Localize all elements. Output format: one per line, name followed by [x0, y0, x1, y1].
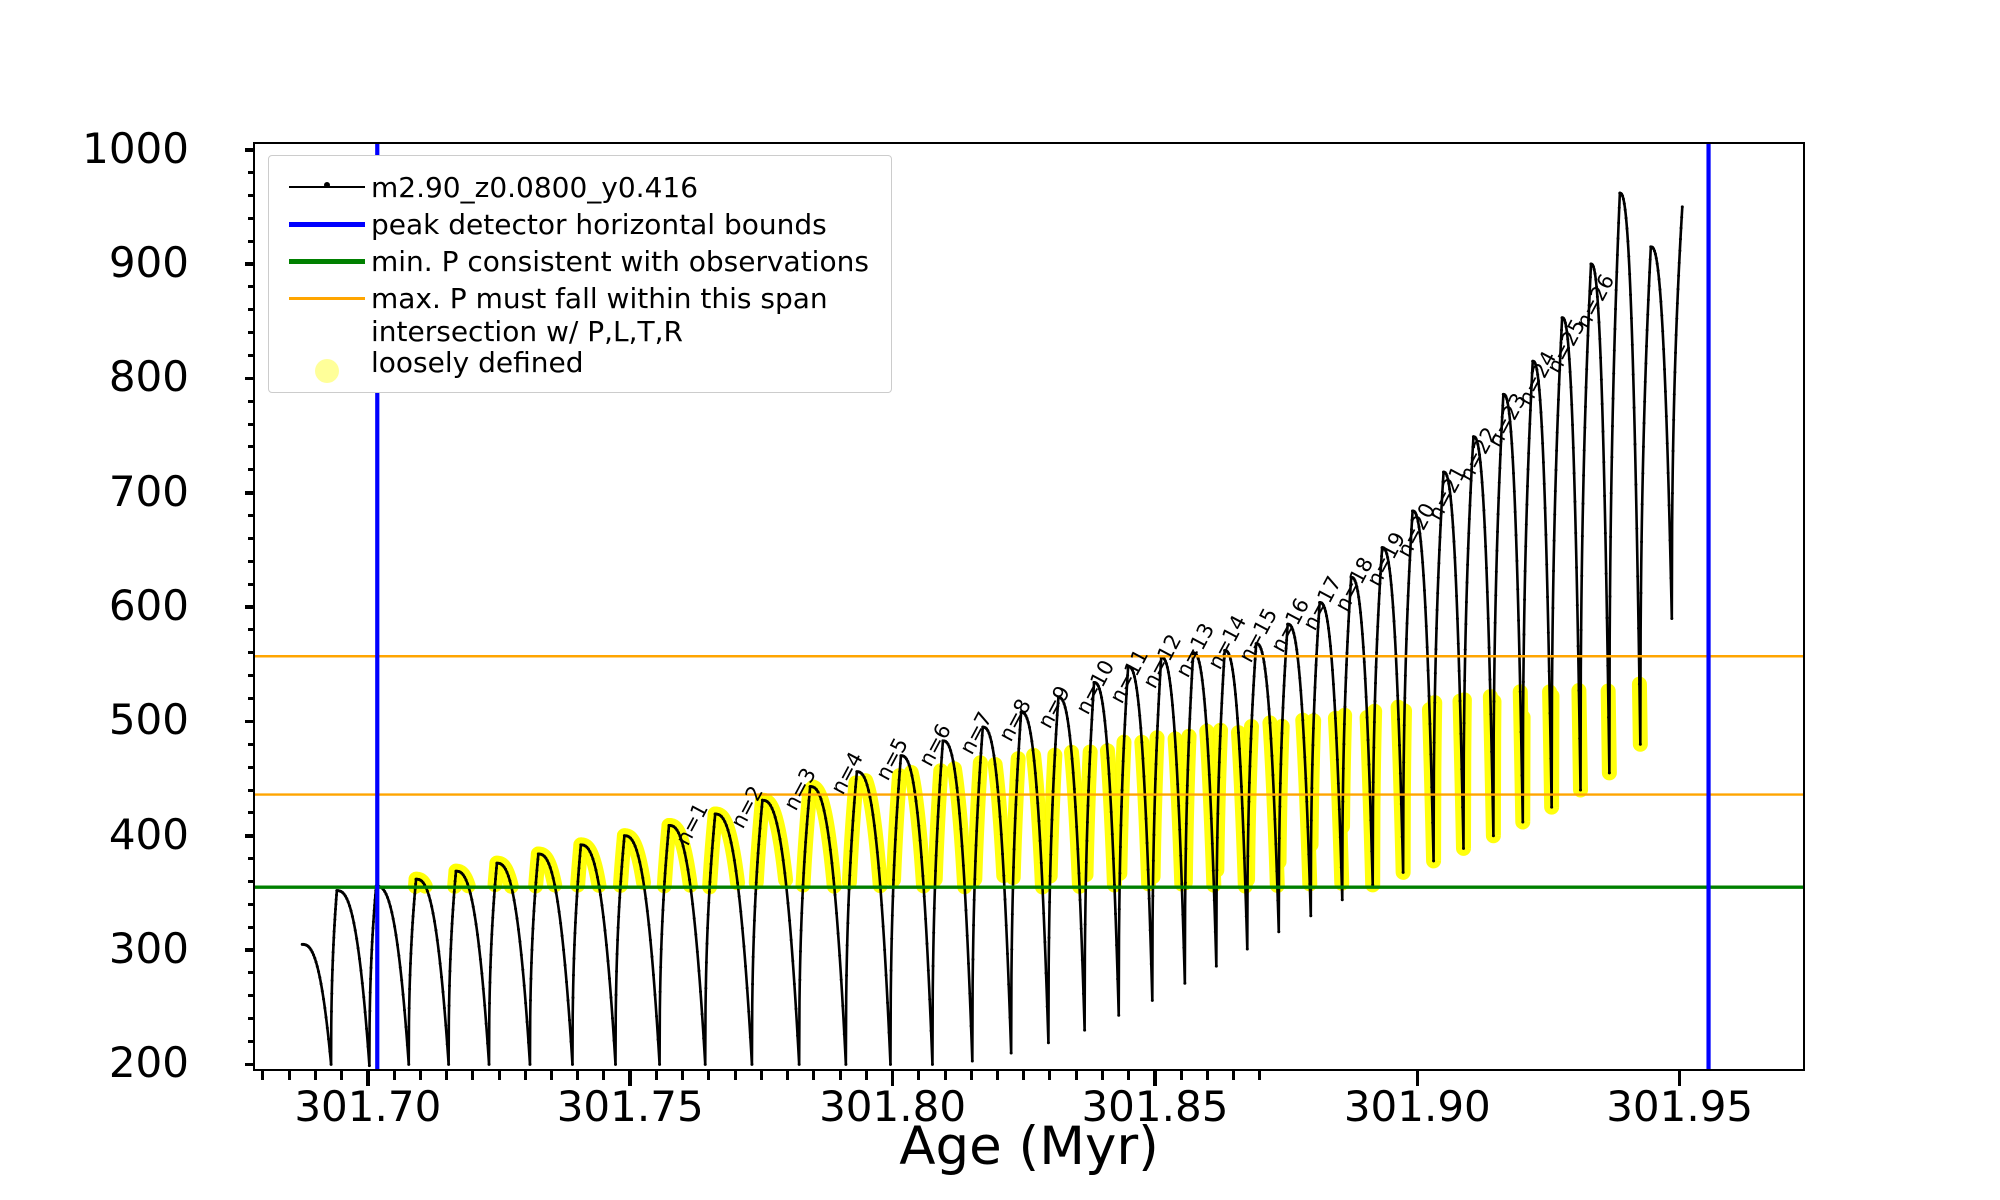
y-tick-label: 500 [0, 695, 189, 744]
legend-entry[interactable]: max. P must fall within this span [285, 279, 869, 316]
legend-label: m2.90_z0.0800_y0.416 [371, 168, 698, 203]
cycle-annotation: n=5 [871, 734, 913, 784]
y-tick-mark [245, 1063, 255, 1067]
line-sample-icon [289, 222, 365, 227]
legend-entry[interactable]: peak detector horizontal bounds [285, 205, 869, 242]
x-tick-mark-minor [445, 1071, 448, 1080]
legend-thin-line-key [285, 279, 371, 316]
y-tick-mark-minor [248, 240, 255, 243]
y-tick-mark-minor [248, 583, 255, 586]
cycle-annotation: n=3 [779, 763, 821, 813]
x-tick-mark-minor [314, 1071, 317, 1080]
x-tick-mark-minor [471, 1071, 474, 1080]
cycle-annotation: n=6 [914, 720, 956, 770]
y-tick-mark-minor [248, 811, 255, 814]
x-tick-mark-minor [1127, 1071, 1130, 1080]
y-tick-mark-minor [248, 651, 255, 654]
y-tick-mark [245, 605, 255, 609]
x-tick-mark-minor [1101, 1071, 1104, 1080]
x-tick-mark-minor [340, 1071, 343, 1080]
y-tick-label: 400 [0, 810, 189, 859]
legend-entry[interactable]: m2.90_z0.0800_y0.416 [285, 168, 869, 205]
legend-label: max. P must fall within this span [371, 279, 828, 314]
x-tick-mark-minor [1258, 1071, 1261, 1080]
legend-entry[interactable]: intersection w/ P,L,T,R loosely defined [285, 316, 869, 378]
y-tick-mark-minor [248, 285, 255, 288]
x-tick-mark [366, 1071, 370, 1086]
y-tick-mark-minor [248, 789, 255, 792]
y-tick-mark-minor [248, 423, 255, 426]
cycle-annotation: n=1 [671, 799, 713, 849]
y-tick-mark-minor [248, 514, 255, 517]
y-tick-mark-minor [248, 880, 255, 883]
y-tick-mark-minor [248, 445, 255, 448]
x-tick-mark [1153, 1071, 1157, 1086]
cycle-annotation: n=9 [1033, 682, 1075, 732]
x-tick-mark-minor [681, 1071, 684, 1080]
legend-dot-key [285, 329, 371, 366]
x-tick-mark-minor [419, 1071, 422, 1080]
x-tick-mark [628, 1071, 632, 1086]
legend-thick-line-key [285, 242, 371, 279]
y-tick-mark-minor [248, 400, 255, 403]
x-tick-mark-minor [393, 1071, 396, 1080]
legend-label: intersection w/ P,L,T,R loosely defined [371, 316, 683, 378]
y-tick-label: 200 [0, 1038, 189, 1087]
y-tick-mark-minor [248, 194, 255, 197]
x-tick-mark-minor [970, 1071, 973, 1080]
y-tick-mark-minor [248, 994, 255, 997]
x-tick-mark [1416, 1071, 1420, 1086]
x-tick-mark-minor [550, 1071, 553, 1080]
x-tick-mark-minor [1022, 1071, 1025, 1080]
y-tick-mark-minor [248, 308, 255, 311]
y-tick-mark-minor [248, 766, 255, 769]
legend-label: min. P consistent with observations [371, 242, 869, 277]
y-tick-mark [245, 720, 255, 724]
x-tick-mark-minor [288, 1071, 291, 1080]
y-tick-mark [245, 948, 255, 952]
x-tick-mark-minor [1206, 1071, 1209, 1080]
cycle-annotation: n=4 [826, 747, 868, 797]
x-tick-mark-minor [865, 1071, 868, 1080]
y-tick-mark-minor [248, 537, 255, 540]
x-tick-mark [891, 1071, 895, 1086]
y-tick-label: 700 [0, 467, 189, 516]
y-tick-label: 300 [0, 924, 189, 973]
legend-thick-line-key [285, 205, 371, 242]
x-tick-mark-minor [524, 1071, 527, 1080]
legend-label: peak detector horizontal bounds [371, 205, 827, 240]
chart-figure: O1 period (days) n=1n=2n=3n=4n=5n=6n=7n=… [0, 0, 2000, 1200]
x-tick-mark-minor [917, 1071, 920, 1080]
y-tick-mark-minor [248, 743, 255, 746]
y-tick-mark-minor [248, 217, 255, 220]
y-tick-mark [245, 377, 255, 381]
x-tick-mark-minor [1180, 1071, 1183, 1080]
y-tick-label: 800 [0, 352, 189, 401]
y-tick-mark [245, 148, 255, 152]
y-tick-mark-minor [248, 926, 255, 929]
x-tick-mark-minor [1048, 1071, 1051, 1080]
y-tick-mark-minor [248, 1040, 255, 1043]
cycle-annotation: n=2 [726, 782, 768, 832]
cycle-annotation: n=8 [994, 695, 1036, 745]
x-tick-mark-minor [996, 1071, 999, 1080]
yellow-marker-icon [315, 359, 339, 383]
cycle-annotation: n=7 [955, 707, 997, 757]
x-tick-mark-minor [786, 1071, 789, 1080]
y-tick-mark-minor [248, 971, 255, 974]
x-tick-mark-minor [734, 1071, 737, 1080]
y-tick-mark-minor [248, 903, 255, 906]
x-tick-mark [1678, 1071, 1682, 1086]
x-tick-mark-minor [261, 1071, 264, 1080]
x-tick-mark-minor [602, 1071, 605, 1080]
y-tick-label: 600 [0, 581, 189, 630]
y-tick-mark-minor [248, 331, 255, 334]
x-tick-mark-minor [760, 1071, 763, 1080]
y-tick-mark-minor [248, 560, 255, 563]
y-tick-label: 1000 [0, 124, 189, 173]
legend-entry[interactable]: min. P consistent with observations [285, 242, 869, 279]
cycle-annotation: n=26 [1571, 270, 1619, 332]
x-tick-mark-minor [839, 1071, 842, 1080]
chart-legend[interactable]: m2.90_z0.0800_y0.416peak detector horizo… [268, 155, 892, 393]
line-sample-icon [289, 297, 365, 300]
x-tick-mark-minor [1232, 1071, 1235, 1080]
y-tick-mark-minor [248, 171, 255, 174]
x-tick-mark-minor [707, 1071, 710, 1080]
y-tick-mark-minor [248, 354, 255, 357]
x-tick-mark-minor [812, 1071, 815, 1080]
y-tick-mark-minor [248, 697, 255, 700]
x-tick-mark-minor [576, 1071, 579, 1080]
y-tick-mark-minor [248, 857, 255, 860]
y-tick-mark-minor [248, 468, 255, 471]
x-axis-label: Age (Myr) [253, 1116, 1805, 1177]
y-tick-mark-minor [248, 674, 255, 677]
x-tick-mark-minor [1075, 1071, 1078, 1080]
y-tick-mark-minor [248, 1017, 255, 1020]
legend-line-marker-key [285, 168, 371, 205]
line-sample-icon [289, 259, 365, 264]
y-tick-mark-minor [248, 628, 255, 631]
x-tick-mark-minor [655, 1071, 658, 1080]
x-tick-mark-minor [944, 1071, 947, 1080]
y-tick-mark [245, 262, 255, 266]
x-tick-mark-minor [498, 1071, 501, 1080]
marker-dot-icon [324, 182, 330, 188]
y-tick-label: 900 [0, 238, 189, 287]
y-tick-mark [245, 491, 255, 495]
y-tick-mark [245, 834, 255, 838]
